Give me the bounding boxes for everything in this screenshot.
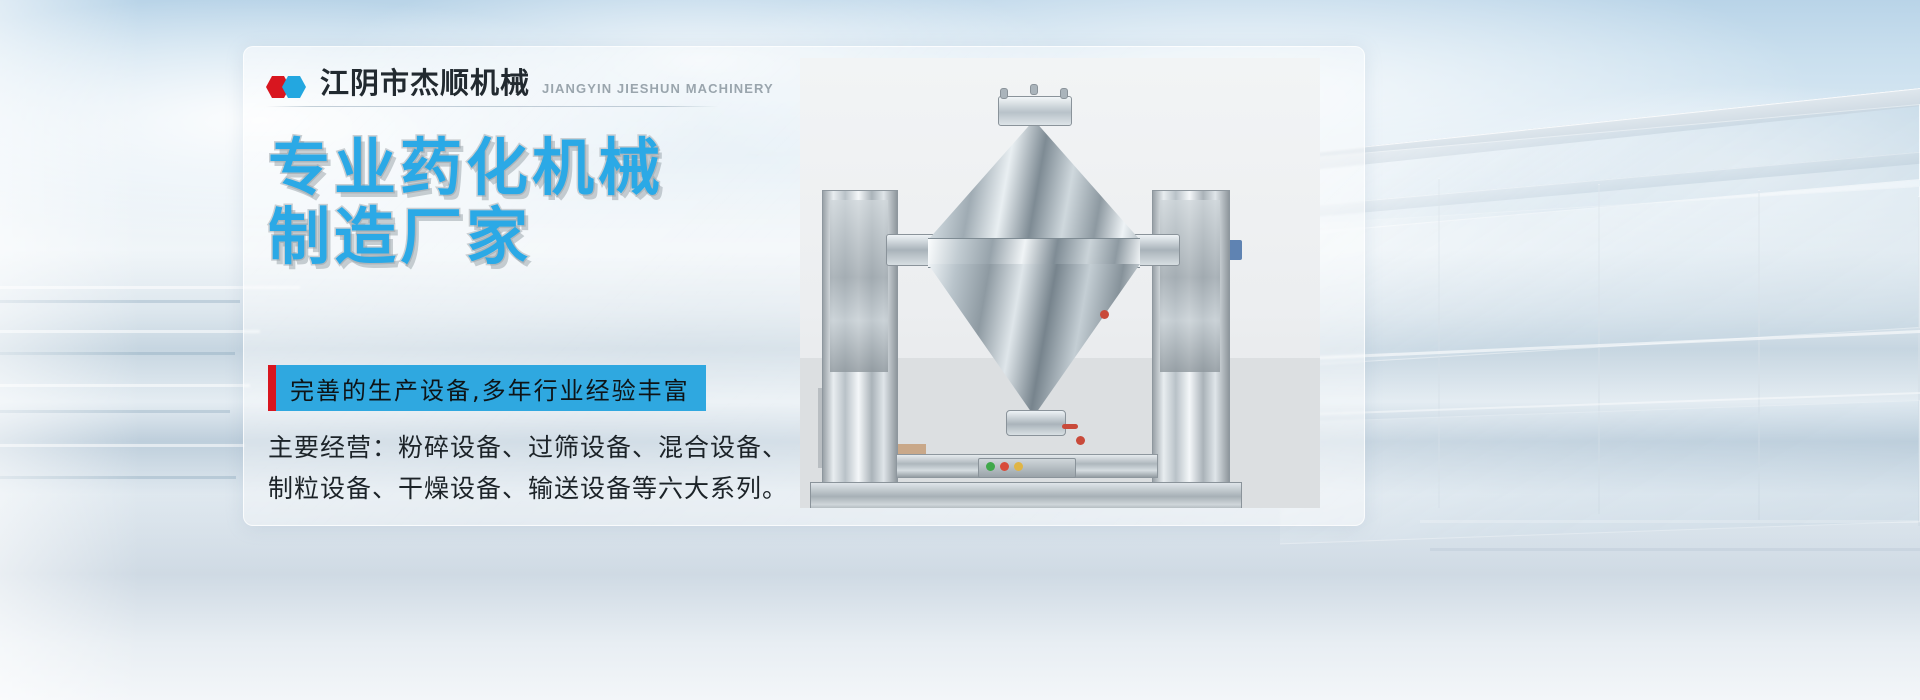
- description-line-2: 制粒设备、干燥设备、输送设备等六大系列。: [268, 468, 778, 509]
- tagline-accent: [268, 365, 276, 411]
- banner-root: 江阴市杰顺机械 JIANGYIN JIESHUN MACHINERY 专业药化机…: [0, 0, 1920, 700]
- brand-logo-row[interactable]: 江阴市杰顺机械 JIANGYIN JIESHUN MACHINERY: [266, 70, 774, 99]
- valve-knob: [1100, 310, 1109, 319]
- vessel-center-band: [928, 238, 1140, 268]
- indicator-light-amber: [1014, 462, 1023, 471]
- manhole-lug: [1060, 88, 1068, 99]
- frame-leg-right-panel: [1160, 200, 1220, 372]
- background-left-glow: [0, 0, 140, 700]
- brand-name-cn: 江阴市杰顺机械: [320, 70, 530, 99]
- manhole-lug: [1030, 84, 1038, 95]
- description: 主要经营：粉碎设备、过筛设备、混合设备、 制粒设备、干燥设备、输送设备等六大系列…: [268, 427, 778, 510]
- brand-divider: [266, 106, 718, 107]
- frame-leg-left-panel: [830, 200, 888, 372]
- brand-name-en: JIANGYIN JIESHUN MACHINERY: [542, 81, 774, 99]
- background-architecture: [1280, 0, 1920, 700]
- frame-base: [810, 482, 1242, 508]
- vessel-manhole-cover: [998, 96, 1072, 126]
- indicator-light-red: [1000, 462, 1009, 471]
- tagline-bar: 完善的生产设备,多年行业经验丰富: [268, 365, 706, 411]
- product-photo: [800, 58, 1320, 508]
- manhole-lug: [1000, 88, 1008, 99]
- discharge-valve: [1006, 410, 1066, 436]
- glass-pane: [1280, 400, 1920, 544]
- valve-knob: [1076, 436, 1085, 445]
- double-hexagon-logo-icon: [266, 75, 308, 99]
- valve-handle: [1062, 424, 1078, 429]
- description-line-1: 主要经营：粉碎设备、过筛设备、混合设备、: [268, 427, 778, 468]
- indicator-light-green: [986, 462, 995, 471]
- tagline-text: 完善的生产设备,多年行业经验丰富: [276, 371, 706, 406]
